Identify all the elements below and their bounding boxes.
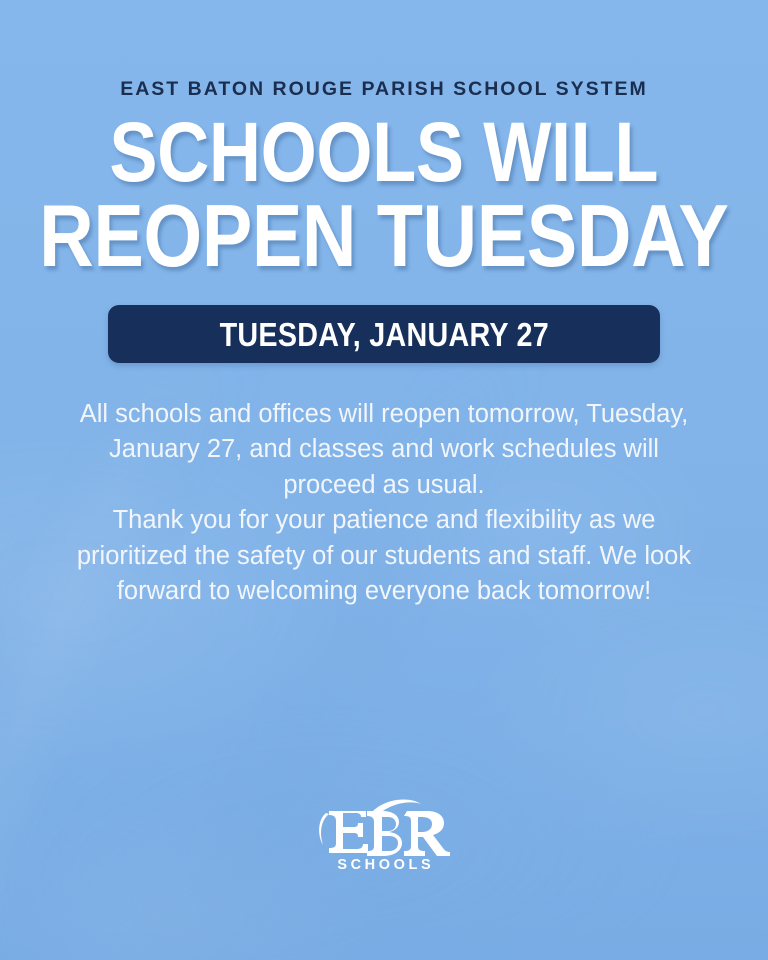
body-text: All schools and offices will reopen tomo… [64, 397, 704, 610]
date-badge: TUESDAY, JANUARY 27 [108, 305, 660, 363]
body-paragraph-1: All schools and offices will reopen tomo… [64, 397, 704, 503]
body-paragraph-2: Thank you for your patience and flexibil… [64, 503, 704, 609]
headline-line-2: REOPEN TUESDAY [39, 193, 728, 279]
page-title: SCHOOLS WILL REOPEN TUESDAY [39, 111, 728, 280]
organization-name: EAST BATON ROUGE PARISH SCHOOL SYSTEM [120, 80, 648, 100]
announcement-poster: EAST BATON ROUGE PARISH SCHOOL SYSTEM SC… [0, 0, 768, 960]
poster-content: EAST BATON ROUGE PARISH SCHOOL SYSTEM SC… [0, 0, 768, 960]
date-badge-label: TUESDAY, JANUARY 27 [219, 318, 548, 351]
headline-line-1: SCHOOLS WILL [39, 111, 728, 193]
